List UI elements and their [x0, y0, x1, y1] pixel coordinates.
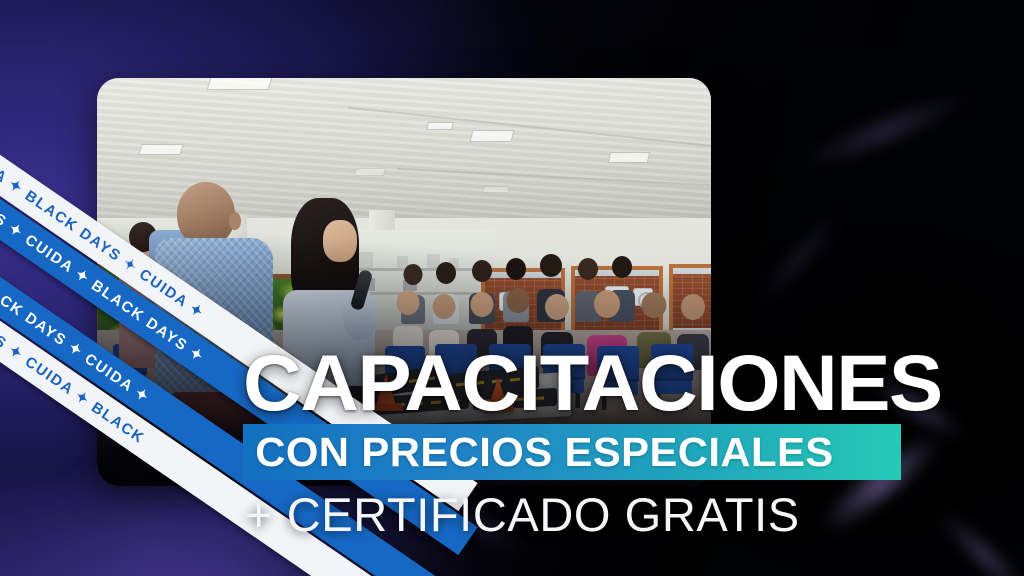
- promo-subheadline-bar: CON PRECIOS ESPECIALES: [243, 424, 901, 480]
- promo-banner: BLACK DAYS ✦ CUIDA ✦ BLACK DAYS ✦ CUIDA …: [0, 0, 1024, 576]
- promo-subheadline: CON PRECIOS ESPECIALES: [243, 429, 834, 476]
- promo-headline: CAPACITACIONES: [243, 349, 1024, 417]
- promo-tagline: + CERTIFICADO GRATIS: [245, 487, 800, 542]
